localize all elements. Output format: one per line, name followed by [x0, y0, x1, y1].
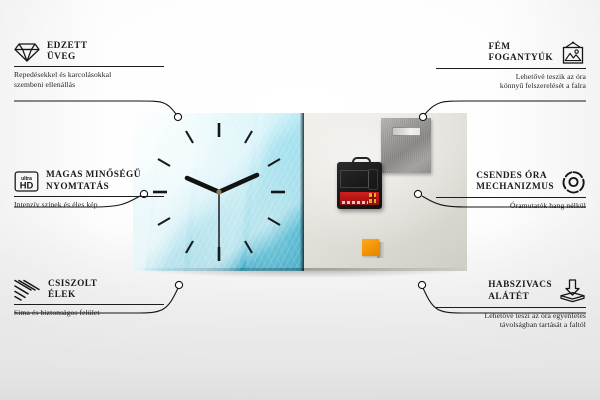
callout-description: Lehetővé teszik az óra könnyű felszerelé…	[436, 72, 586, 91]
callout-title-row: FÉM FOGANTYÚK	[436, 41, 586, 65]
metal-hanger-plate	[381, 118, 431, 173]
callout-title-row: HABSZIVACS ALÁTÉT	[436, 279, 586, 304]
aa-battery	[340, 192, 379, 205]
diamond-icon	[14, 41, 40, 63]
gear-icon	[561, 170, 586, 194]
callout-underline	[14, 304, 164, 305]
callout-description: Lehetővé teszi az óra egyenletes távolsá…	[436, 311, 586, 330]
callout-title-row: EDZETT ÜVEG	[14, 41, 164, 64]
callout-title: MAGAS MINŐSÉGŰ NYOMTATÁS	[46, 170, 141, 193]
callout-underline	[436, 307, 586, 308]
mechanism-panel-seam	[340, 170, 369, 188]
callout-metal-handles: FÉM FOGANTYÚK Lehetővé teszik az óra kön…	[436, 41, 586, 91]
callout-tempered-glass: EDZETT ÜVEG Repedésekkel és karcolásokka…	[14, 41, 164, 90]
press-down-pad-icon	[559, 279, 586, 304]
callout-title: CSENDES ÓRA MECHANIZMUS	[476, 171, 554, 194]
callout-description: Intenzív színek és éles kép	[14, 200, 164, 210]
mechanism-side-seam	[368, 169, 378, 190]
callout-underline	[14, 196, 164, 197]
callout-description: Óramutatók hang nélkül	[436, 201, 586, 211]
callout-title-row: CSISZOLT ÉLEK	[14, 279, 164, 302]
clock-mechanism	[337, 162, 382, 209]
infographic-stage: EDZETT ÜVEG Repedésekkel és karcolásokka…	[0, 0, 600, 400]
battery-label-text	[342, 201, 368, 204]
hanger-slot	[392, 127, 421, 136]
callout-title-row: ultra HD MAGAS MINŐSÉGŰ NYOMTATÁS	[14, 170, 164, 193]
orange-foam-pad	[362, 239, 379, 256]
picture-frame-icon	[560, 41, 586, 65]
callout-silent-mechanism: CSENDES ÓRA MECHANIZMUS Óramutatók hang …	[436, 170, 586, 210]
callout-title-row: CSENDES ÓRA MECHANIZMUS	[436, 170, 586, 194]
callout-polished-edges: CSISZOLT ÉLEK Sima és biztonságos felüle…	[14, 279, 164, 318]
battery-plus-terminal	[369, 193, 376, 203]
svg-text:HD: HD	[20, 179, 34, 190]
callout-title: FÉM FOGANTYÚK	[489, 42, 553, 65]
callout-underline	[14, 66, 164, 67]
callout-title: EDZETT ÜVEG	[47, 41, 87, 64]
callout-foam-pad: HABSZIVACS ALÁTÉT Lehetővé teszi az óra …	[436, 279, 586, 330]
callout-underline	[436, 197, 586, 198]
callout-description: Repedésekkel és karcolásokkal szembeni e…	[14, 70, 164, 89]
diagonal-lines-icon	[14, 279, 41, 301]
callout-title: CSISZOLT ÉLEK	[48, 279, 97, 302]
ultra-hd-icon: ultra HD	[14, 170, 39, 193]
callout-high-quality-print: ultra HD MAGAS MINŐSÉGŰ NYOMTATÁS Intenz…	[14, 170, 164, 209]
mechanism-hanger-loop	[352, 157, 371, 167]
callout-underline	[436, 68, 586, 69]
product-photo-band	[133, 113, 467, 271]
callout-description: Sima és biztonságos felület	[14, 308, 164, 318]
callout-title: HABSZIVACS ALÁTÉT	[488, 280, 552, 303]
